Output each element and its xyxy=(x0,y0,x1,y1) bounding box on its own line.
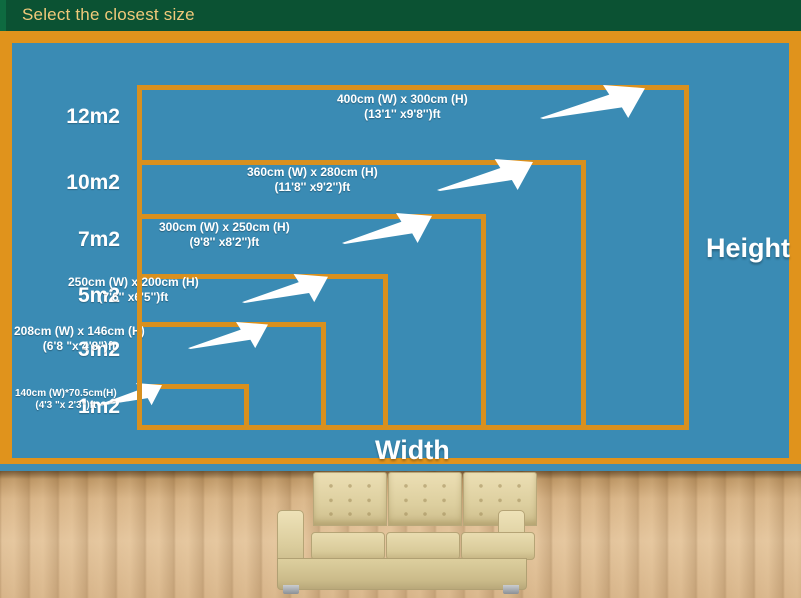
dimension-imperial-12m2: (13'1'' x9'8'')ft xyxy=(337,107,468,122)
dimension-callout-1m2: 140cm (W)*70.5cm(H)(4'3 "x 2'3")ft xyxy=(15,388,117,412)
sofa-base xyxy=(277,558,527,590)
header-accent-stripe xyxy=(0,0,6,31)
page-title: Select the closest size xyxy=(22,5,195,25)
width-axis-label: Width xyxy=(375,435,450,466)
sofa-seat-cushion-right xyxy=(461,532,535,560)
dimension-metric-12m2: 400cm (W) x 300cm (H) xyxy=(337,92,468,107)
dimension-callout-12m2: 400cm (W) x 300cm (H)(13'1'' x9'8'')ft xyxy=(337,92,468,121)
dimension-callout-3m2: 208cm (W) x 146cm (H)(6'8 "x 4'8")ft xyxy=(14,324,145,353)
area-label-10m2: 10m2 xyxy=(12,171,120,195)
wall-surface: 1m2140cm (W)*70.5cm(H)(4'3 "x 2'3")ft3m2… xyxy=(12,43,789,458)
dimension-imperial-1m2: (4'3 "x 2'3")ft xyxy=(15,400,117,412)
sofa-back-cushion-left xyxy=(313,472,387,526)
sofa-back-cushion-center xyxy=(388,472,462,526)
sofa-seat-cushion-left xyxy=(311,532,385,560)
wall-frame: 1m2140cm (W)*70.5cm(H)(4'3 "x 2'3")ft3m2… xyxy=(0,31,801,471)
pointer-arrow-12m2 xyxy=(540,85,645,119)
sofa-seat-cushion-center xyxy=(386,532,460,560)
area-label-12m2: 12m2 xyxy=(12,105,120,129)
dimension-metric-1m2: 140cm (W)*70.5cm(H) xyxy=(15,388,117,400)
beige-three-seater-sofa xyxy=(255,472,547,594)
size-rect-12m2[interactable] xyxy=(137,85,689,430)
dimension-imperial-3m2: (6'8 "x 4'8")ft xyxy=(14,339,145,354)
area-label-7m2: 7m2 xyxy=(12,228,120,252)
header-bar: Select the closest size xyxy=(0,0,801,31)
height-axis-label: Height xyxy=(706,233,790,264)
size-guide-screenshot: Select the closest size 1m2140cm (W)*70.… xyxy=(0,0,801,598)
sofa-leg-left xyxy=(283,585,299,594)
sofa-leg-right xyxy=(503,585,519,594)
dimension-metric-3m2: 208cm (W) x 146cm (H) xyxy=(14,324,145,339)
